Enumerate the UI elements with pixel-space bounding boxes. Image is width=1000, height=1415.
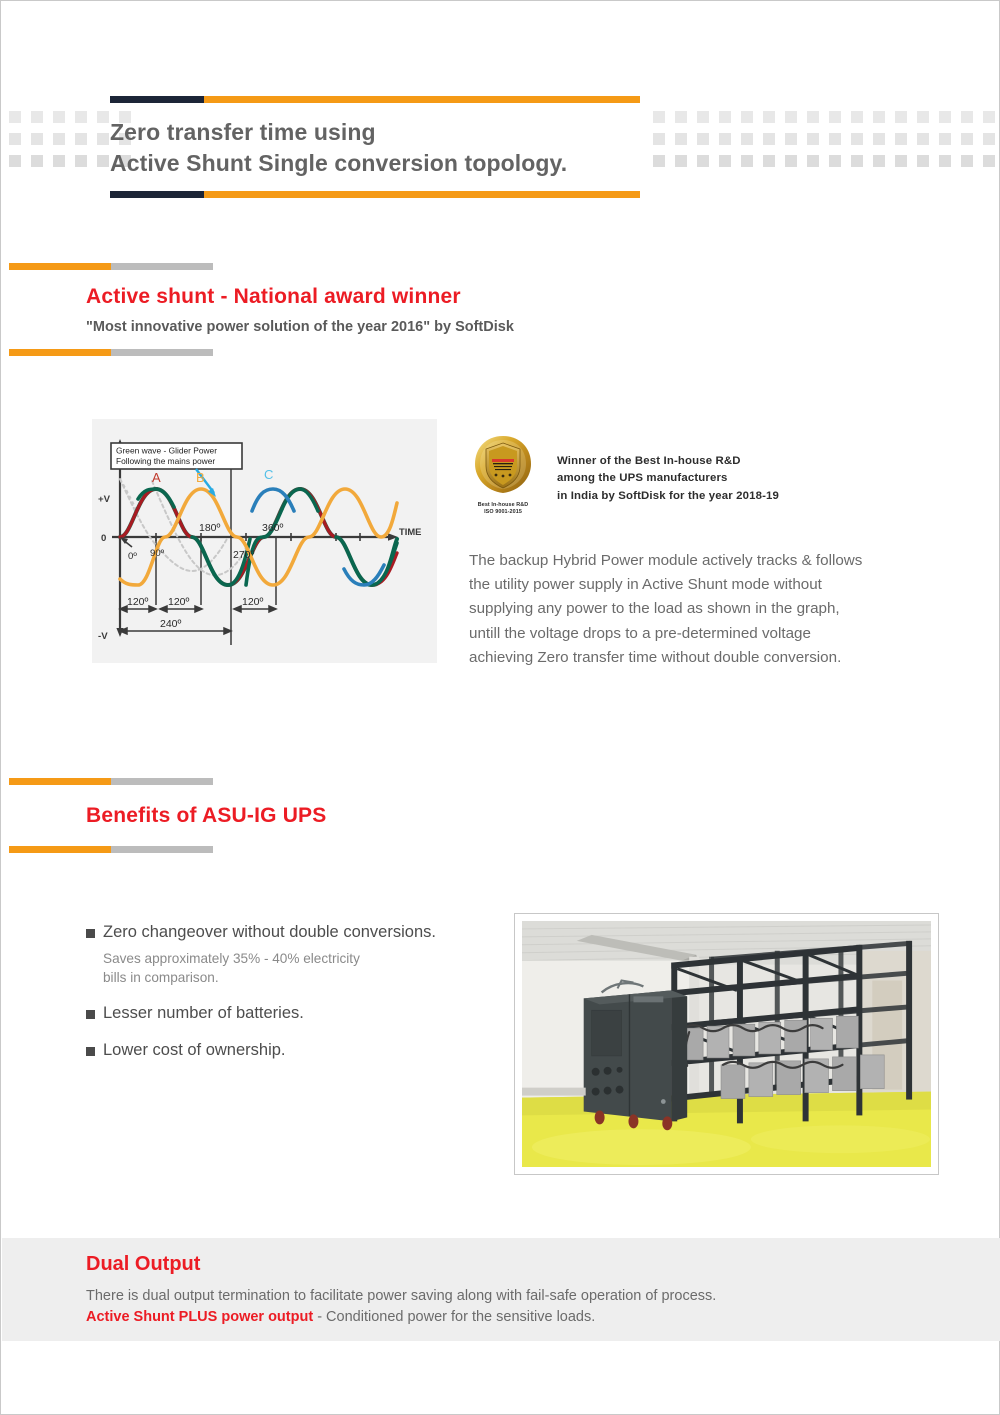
dual-output-line2: Active Shunt PLUS power output - Conditi… — [86, 1309, 906, 1325]
award-medal-icon — [472, 433, 534, 495]
dot — [697, 155, 709, 167]
award-section-title: Active shunt - National award winner — [86, 285, 726, 309]
dot — [763, 133, 775, 145]
dot — [785, 155, 797, 167]
dot — [961, 155, 973, 167]
dual-output-line2-bold: Active Shunt PLUS power output — [86, 1309, 313, 1325]
chart-series-label-b: B — [196, 470, 205, 485]
dot — [675, 133, 687, 145]
body-paragraph-line4: untill the voltage drops to a pre-determ… — [469, 622, 947, 646]
chart-series-label-a: A — [152, 470, 161, 485]
dot — [851, 133, 863, 145]
benefit-item-3: Lower cost of ownership. — [86, 1039, 486, 1063]
dual-output-line2-rest: - Conditioned power for the sensitive lo… — [313, 1309, 595, 1325]
dot — [829, 133, 841, 145]
dot — [983, 133, 995, 145]
dot — [873, 155, 885, 167]
benefits-section-title: Benefits of ASU-IG UPS — [86, 804, 586, 828]
page-title-line2: Active Shunt Single conversion topology. — [110, 148, 640, 179]
dot — [719, 111, 731, 123]
dot — [895, 155, 907, 167]
award-badge-caption-line2: ISO 9001-2015 — [469, 509, 537, 516]
chart-span-240: 240º — [160, 618, 182, 630]
chart-tick-360: 360º — [262, 522, 284, 534]
dot — [785, 111, 797, 123]
title-rule-bottom — [110, 191, 640, 198]
dot — [653, 111, 665, 123]
dot — [873, 111, 885, 123]
dot — [983, 155, 995, 167]
dot — [741, 111, 753, 123]
benefit-item-2-label: Lesser number of batteries. — [103, 1002, 304, 1026]
award-badge: Best In-house R&D ISO 9001-2015 — [469, 433, 537, 517]
chart-axis-ylabel-top: +V — [98, 494, 111, 505]
page-title-line1: Zero transfer time using — [110, 117, 640, 148]
dot — [763, 155, 775, 167]
award-badge-caption-line1: Best In-house R&D — [469, 502, 537, 509]
dot — [895, 133, 907, 145]
bullet-square-icon — [86, 1010, 95, 1019]
dot — [829, 111, 841, 123]
benefit-item-3-label: Lower cost of ownership. — [103, 1039, 286, 1063]
chart-axis-ylabel-bottom: -V — [98, 631, 108, 642]
chart-tick-0: 0º — [128, 551, 137, 562]
dot — [697, 133, 709, 145]
chart-span-120-3: 120º — [242, 596, 264, 608]
dot — [939, 133, 951, 145]
dual-output-title: Dual Output — [86, 1253, 906, 1276]
dot — [653, 133, 665, 145]
chart-tick-90: 90º — [150, 548, 165, 559]
dot — [675, 111, 687, 123]
bullet-square-icon — [86, 929, 95, 938]
dot — [873, 133, 885, 145]
dot — [917, 111, 929, 123]
dot — [719, 133, 731, 145]
dot — [741, 133, 753, 145]
bullet-square-icon — [86, 1047, 95, 1056]
award-section-heading: Active shunt - National award winner "Mo… — [86, 285, 726, 335]
body-paragraph-line3: supplying any power to the load as shown… — [469, 597, 947, 621]
benefits-list: Zero changeover without double conversio… — [86, 921, 486, 1067]
page-title: Zero transfer time using Active Shunt Si… — [110, 103, 640, 191]
award-section-bar-bottom — [9, 349, 213, 356]
award-text: Winner of the Best In-house R&D among th… — [557, 433, 779, 505]
dot — [675, 155, 687, 167]
benefit-item-1-sub-line2: bills in comparison. — [103, 968, 486, 987]
dot — [807, 111, 819, 123]
benefits-section-heading: Benefits of ASU-IG UPS — [86, 804, 586, 828]
benefit-item-1: Zero changeover without double conversio… — [86, 921, 486, 945]
dot — [741, 155, 753, 167]
chart-span-120-2: 120º — [168, 596, 190, 608]
award-text-line1: Winner of the Best In-house R&D — [557, 453, 779, 470]
dot — [719, 155, 731, 167]
dot — [851, 111, 863, 123]
chart-tick-180: 180º — [199, 522, 221, 534]
benefit-item-2: Lesser number of batteries. — [86, 1002, 486, 1026]
chart-callout-line2: Following the mains power — [116, 456, 215, 466]
dot — [807, 155, 819, 167]
dot — [785, 133, 797, 145]
award-block: Best In-house R&D ISO 9001-2015 Winner o… — [469, 433, 939, 517]
dot — [895, 111, 907, 123]
dot — [961, 111, 973, 123]
body-paragraph: The backup Hybrid Power module actively … — [469, 549, 947, 670]
benefit-item-1-sub: Saves approximately 35% - 40% electricit… — [103, 949, 486, 988]
award-section-subtitle: "Most innovative power solution of the y… — [86, 319, 726, 335]
award-section-bar-top — [9, 263, 213, 270]
body-paragraph-line1: The backup Hybrid Power module actively … — [469, 549, 947, 573]
dot-pattern-right — [653, 111, 1000, 177]
benefits-section-bar-top — [9, 778, 213, 785]
dual-output-block: Dual Output There is dual output termina… — [86, 1253, 906, 1325]
chart-tick-270: 270º — [233, 549, 255, 561]
chart-axis-ylabel-zero: 0 — [101, 533, 106, 544]
dot — [917, 133, 929, 145]
ups-room-photo-frame — [514, 913, 939, 1175]
dual-output-line1: There is dual output termination to faci… — [86, 1288, 906, 1304]
chart-span-120-1: 120º — [127, 596, 149, 608]
body-paragraph-line2: the utility power supply in Active Shunt… — [469, 573, 947, 597]
award-text-line2: among the UPS manufacturers — [557, 470, 779, 487]
title-rule-top — [110, 96, 640, 103]
dot — [697, 111, 709, 123]
chart-axis-xlabel: TIME — [399, 526, 421, 537]
ups-room-photo — [522, 921, 931, 1167]
dot — [939, 155, 951, 167]
benefit-item-1-label: Zero changeover without double conversio… — [103, 921, 436, 945]
benefit-item-1-sub-line1: Saves approximately 35% - 40% electricit… — [103, 949, 486, 968]
award-text-line3: in India by SoftDisk for the year 2018-1… — [557, 488, 779, 505]
dot — [829, 155, 841, 167]
dot — [983, 111, 995, 123]
dot — [939, 111, 951, 123]
dot — [763, 111, 775, 123]
body-paragraph-line5: achieving Zero transfer time without dou… — [469, 646, 947, 670]
chart-callout-line1: Green wave - Glider Power — [116, 446, 217, 456]
dot — [917, 155, 929, 167]
chart-series-label-c: C — [264, 467, 273, 482]
benefits-section-bar-bottom — [9, 846, 213, 853]
dot — [961, 133, 973, 145]
dot — [851, 155, 863, 167]
dot — [807, 133, 819, 145]
waveform-chart: Green wave - Glider Power Following the … — [92, 419, 437, 663]
award-badge-caption: Best In-house R&D ISO 9001-2015 — [469, 502, 537, 517]
page-title-block: Zero transfer time using Active Shunt Si… — [110, 96, 640, 198]
dot — [653, 155, 665, 167]
